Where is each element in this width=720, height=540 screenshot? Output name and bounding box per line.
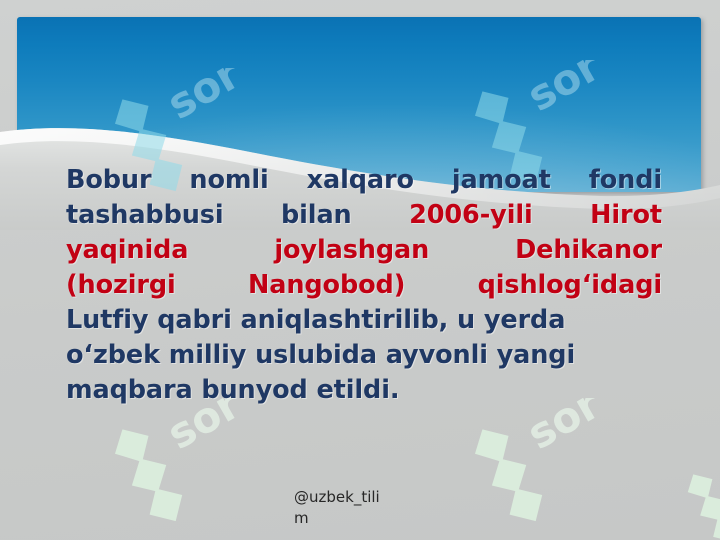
slide-body-text: Bobur nomli xalqaro jamoat fondi tashabb… (66, 163, 662, 408)
text-run: tashabbusi bilan (66, 200, 409, 230)
text-run: o‘zbek milliy uslubida ayvonli yangi (66, 340, 575, 370)
text-run-highlight: yaqinida joylashgan Dehikanor (66, 235, 662, 265)
text-run-highlight: (hozirgi Nangobod) qishlog‘idagi (66, 270, 662, 300)
text-line-7: maqbara bunyod etildi. (66, 373, 662, 408)
text-run-highlight: 2006-yili Hirot (409, 200, 662, 230)
text-line-3: yaqinida joylashgan Dehikanor (66, 233, 662, 268)
text-line-2: tashabbusi bilan 2006-yili Hirot (66, 198, 662, 233)
text-run: Lutfiy qabri aniqlashtirilib, u yerda (66, 305, 565, 335)
presentation-slide: sor sor sor so (0, 0, 720, 540)
text-line-1: Bobur nomli xalqaro jamoat fondi (66, 163, 662, 198)
text-line-5: Lutfiy qabri aniqlashtirilib, u yerda (66, 303, 662, 338)
text-line-6: o‘zbek milliy uslubida ayvonli yangi (66, 338, 662, 373)
text-run: maqbara bunyod etildi. (66, 375, 399, 405)
channel-handle: @uzbek_tilim (294, 487, 392, 529)
text-run: Bobur nomli xalqaro jamoat fondi (66, 165, 662, 195)
text-line-4: (hozirgi Nangobod) qishlog‘idagi (66, 268, 662, 303)
